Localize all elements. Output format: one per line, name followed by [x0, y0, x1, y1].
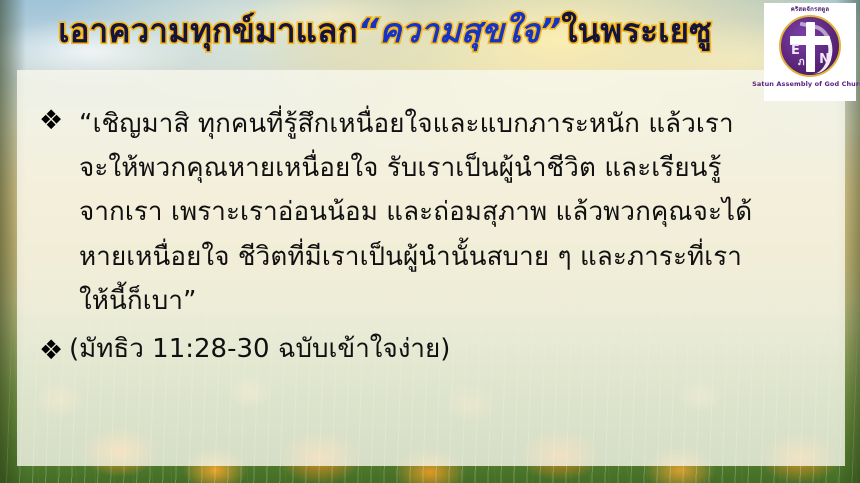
presentation-slide: เอาความทุกข์มาแลก“ความสุขใจ”ในพระเยซู คร…: [0, 0, 860, 483]
logo-thai-name: คริสตจักรสตูล: [791, 7, 829, 13]
verse-block: ❖ “เชิญมาสิ ทุกคนที่รู้สึกเหนื่อยใจและแบ…: [39, 102, 823, 323]
verse-line: ให้นี้ก็เบา”: [79, 279, 752, 323]
verse-line: จะให้พวกคุณหายเหนื่อยใจ รับเราเป็นผู้นำช…: [79, 146, 752, 190]
logo-english-name: Satun Assembly of God Church: [752, 80, 860, 88]
church-logo: คริสตจักรสตูล Ε Ν ภ Satun Assembly of Go…: [764, 3, 856, 101]
reference-block: ❖ (มัทธิว 11:28-30 ฉบับเข้าใจง่าย): [39, 333, 823, 368]
logo-glyph-right: Ν: [819, 52, 830, 67]
scripture-reference: (มัทธิว 11:28-30 ฉบับเข้าใจง่าย): [69, 333, 450, 367]
diamond-bullet-icon: ❖: [39, 102, 79, 140]
verse-line: “เชิญมาสิ ทุกคนที่รู้สึกเหนื่อยใจและแบกภ…: [79, 102, 752, 146]
logo-emblem-circle: Ε Ν ภ: [779, 15, 841, 77]
verse-line: จากเรา เพราะเราอ่อนน้อม และถ่อมสุภาพ แล้…: [79, 190, 752, 234]
title-quoted-highlight: “ความสุขใจ”: [358, 11, 562, 50]
verse-line: หายเหนื่อยใจ ชีวิตที่มีเราเป็นผู้นำนั้นส…: [79, 235, 752, 279]
title-part-two: ในพระเยซู: [561, 11, 712, 50]
title-part-one: เอาความทุกข์มาแลก: [58, 11, 358, 50]
title-text-group: เอาความทุกข์มาแลก“ความสุขใจ”ในพระเยซู: [58, 11, 712, 50]
slide-title: เอาความทุกข์มาแลก“ความสุขใจ”ในพระเยซู: [0, 14, 770, 49]
verse-lines: “เชิญมาสิ ทุกคนที่รู้สึกเหนื่อยใจและแบกภ…: [79, 102, 752, 323]
diamond-bullet-icon: ❖: [39, 333, 69, 368]
verse-content: ❖ “เชิญมาสิ ทุกคนที่รู้สึกเหนื่อยใจและแบ…: [17, 70, 845, 466]
cross-icon-vertical: [806, 22, 815, 72]
logo-glyph-bottom: ภ: [798, 55, 805, 70]
